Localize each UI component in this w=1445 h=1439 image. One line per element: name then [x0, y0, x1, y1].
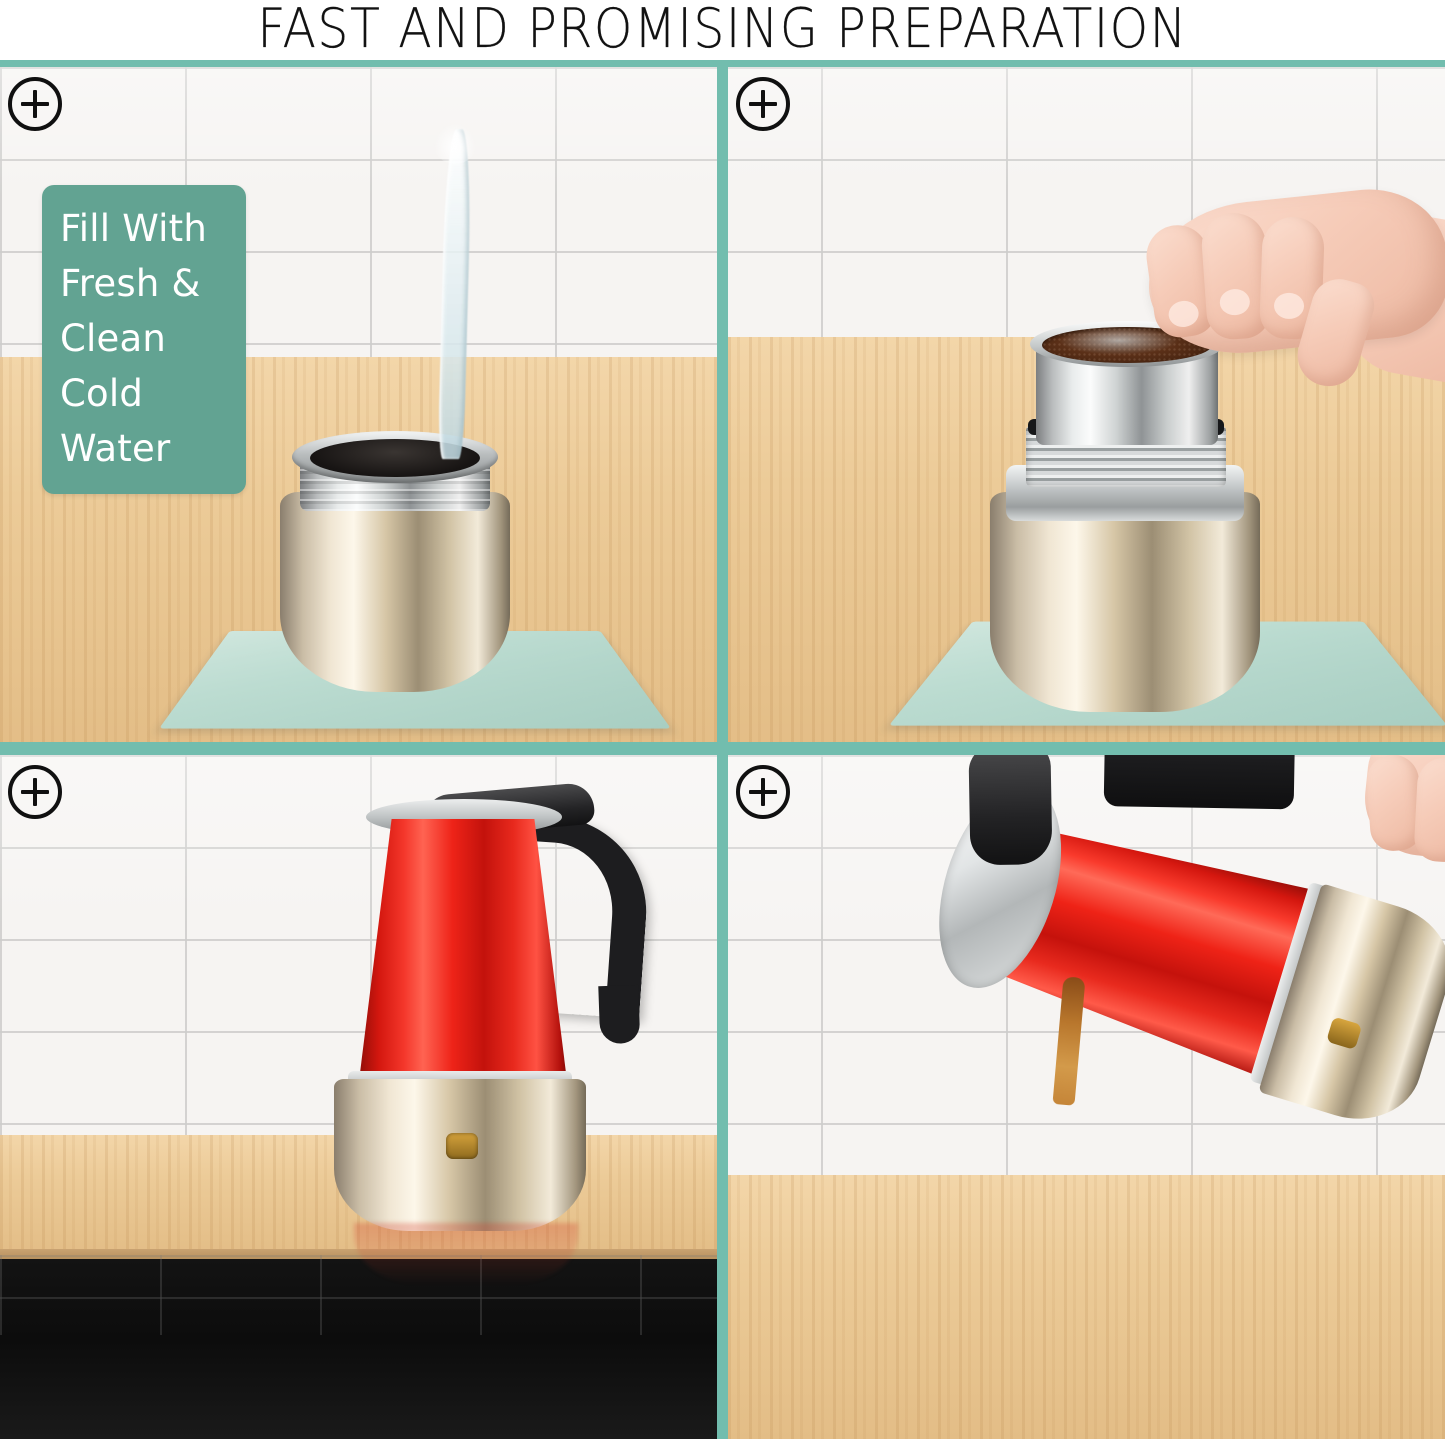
- infographic-page: FAST AND PROMISING PREPARATION: [0, 0, 1445, 1432]
- scene-brew-on-stove: [0, 755, 717, 1439]
- panel-step-2: Fill The Funnel With Amount of Ground Co…: [728, 67, 1445, 755]
- steps-grid: Fill With Fresh & Clean Cold Water: [0, 60, 1445, 1432]
- lid-knob: [968, 755, 1052, 865]
- fingernail: [1219, 288, 1251, 316]
- safety-valve: [446, 1133, 478, 1159]
- fingernail: [1167, 299, 1200, 329]
- plus-circle-icon[interactable]: [8, 765, 62, 819]
- pot-body: [280, 492, 510, 692]
- panel-step-4: Pour Aromatic & Rich Coffee And Simply E…: [728, 755, 1445, 1439]
- caption-badge-step-1: Fill With Fresh & Clean Cold Water: [42, 185, 246, 494]
- scene-fill-funnel: [728, 67, 1445, 742]
- pot-upper-red-body: [358, 819, 568, 1089]
- page-title: FAST AND PROMISING PREPARATION: [257, 2, 1187, 57]
- water-splash: [433, 122, 477, 164]
- fingernail: [1274, 292, 1305, 319]
- wooden-counter: [728, 1175, 1445, 1439]
- moka-pot-base: [270, 397, 520, 697]
- plus-circle-icon[interactable]: [8, 77, 62, 131]
- header-bar: FAST AND PROMISING PREPARATION: [0, 0, 1445, 60]
- panel-step-3: Place On Your Stove/ Induction And Brew …: [0, 755, 728, 1439]
- caption-text-step-1: Fill With Fresh & Clean Cold Water: [60, 201, 228, 476]
- red-moka-pot: [296, 771, 636, 1241]
- pot-body: [990, 492, 1260, 712]
- panel-step-1: Fill With Fresh & Clean Cold Water: [0, 67, 728, 755]
- plus-circle-icon[interactable]: [736, 77, 790, 131]
- dark-tile-backsplash: [0, 1255, 717, 1335]
- scene-pour-coffee: [728, 755, 1445, 1439]
- stove-reflection: [354, 1223, 578, 1285]
- hand: [1058, 187, 1445, 487]
- pot-handle: [1104, 755, 1296, 809]
- plus-circle-icon[interactable]: [736, 765, 790, 819]
